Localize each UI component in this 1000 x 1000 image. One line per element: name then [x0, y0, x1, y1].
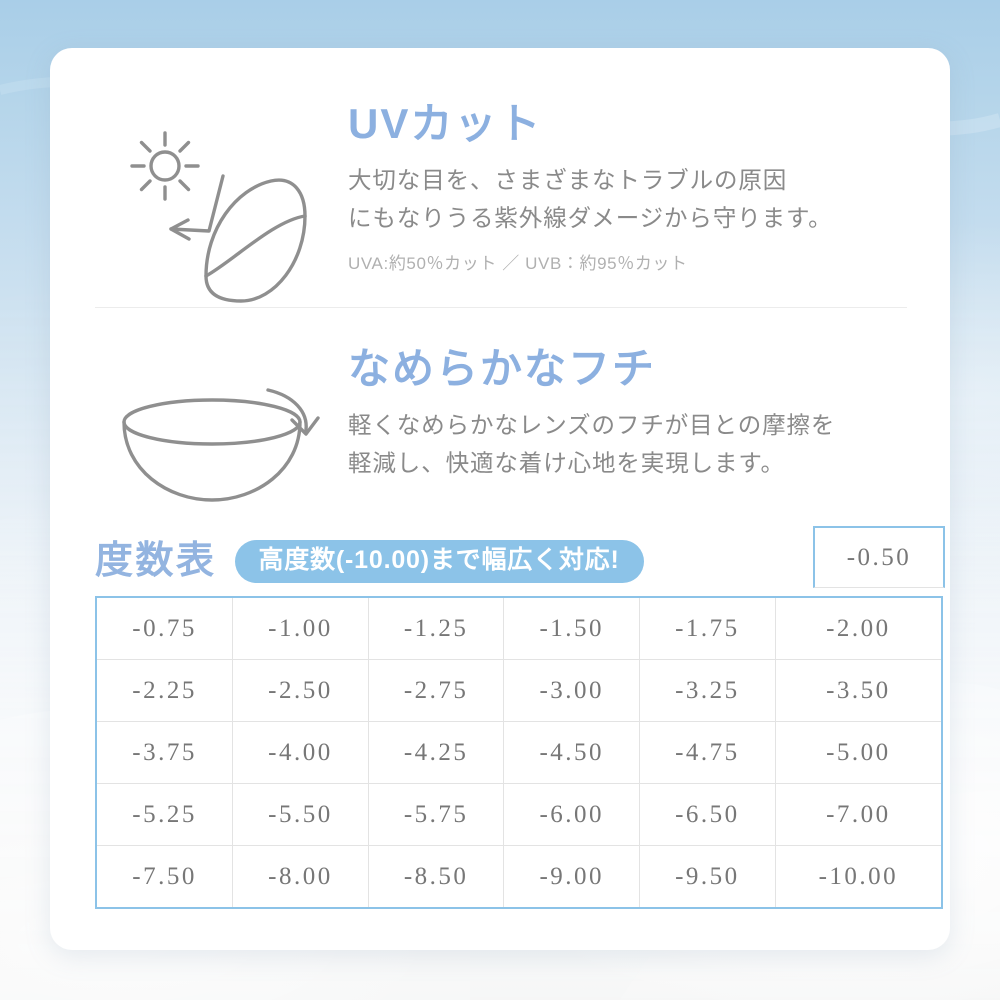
- feature-uv-cut-body: UVカット 大切な目を、さまざまなトラブルの原因 にもなりうる紫外線ダメージから…: [348, 103, 918, 274]
- power-table-row: -0.75-1.00-1.25-1.50-1.75-2.00: [96, 597, 942, 660]
- power-cell[interactable]: -8.50: [368, 846, 504, 909]
- feature-smooth-edge-title: なめらかなフチ: [348, 348, 928, 390]
- power-table-header: 度数表 高度数(-10.00)まで幅広く対応! -0.50: [95, 526, 945, 596]
- power-cell[interactable]: -5.00: [775, 722, 942, 784]
- power-cell[interactable]: -5.75: [368, 784, 504, 846]
- power-cell[interactable]: -2.25: [96, 660, 233, 722]
- feature-uv-cut-desc-line-2: にもなりうる紫外線ダメージから守ります。: [348, 199, 918, 237]
- smooth-lens-edge-icon: [98, 348, 348, 513]
- power-cell[interactable]: -0.75: [96, 597, 233, 660]
- power-cell[interactable]: -7.50: [96, 846, 233, 909]
- power-cell[interactable]: -1.25: [368, 597, 504, 660]
- power-table-section: 度数表 高度数(-10.00)まで幅広く対応! -0.50 -0.75-1.00…: [95, 526, 945, 909]
- power-table-row: -2.25-2.50-2.75-3.00-3.25-3.50: [96, 660, 942, 722]
- feature-uv-cut: UVカット 大切な目を、さまざまなトラブルの原因 にもなりうる紫外線ダメージから…: [98, 103, 918, 306]
- power-table-row: -3.75-4.00-4.25-4.50-4.75-5.00: [96, 722, 942, 784]
- power-cell[interactable]: -1.75: [640, 597, 776, 660]
- feature-smooth-edge-desc-line-1: 軽くなめらかなレンズのフチが目との摩擦を: [348, 406, 928, 444]
- power-table-body: -0.75-1.00-1.25-1.50-1.75-2.00-2.25-2.50…: [96, 597, 942, 908]
- power-table-row: -5.25-5.50-5.75-6.00-6.50-7.00: [96, 784, 942, 846]
- power-cell[interactable]: -3.75: [96, 722, 233, 784]
- power-cell[interactable]: -6.00: [504, 784, 640, 846]
- power-table-title: 度数表: [95, 542, 217, 580]
- power-cell[interactable]: -2.00: [775, 597, 942, 660]
- feature-uv-cut-title: UVカット: [348, 103, 918, 145]
- feature-uv-cut-desc-line-1: 大切な目を、さまざまなトラブルの原因: [348, 161, 918, 199]
- power-cell[interactable]: -4.75: [640, 722, 776, 784]
- power-cell[interactable]: -4.25: [368, 722, 504, 784]
- power-cell[interactable]: -10.00: [775, 846, 942, 909]
- feature-smooth-edge: なめらかなフチ 軽くなめらかなレンズのフチが目との摩擦を 軽減し、快適な着け心地…: [98, 348, 928, 513]
- power-cell[interactable]: -3.25: [640, 660, 776, 722]
- power-cell[interactable]: -7.00: [775, 784, 942, 846]
- info-card: UVカット 大切な目を、さまざまなトラブルの原因 にもなりうる紫外線ダメージから…: [50, 48, 950, 950]
- power-cell[interactable]: -2.50: [233, 660, 369, 722]
- power-cell[interactable]: -1.50: [504, 597, 640, 660]
- power-table-row: -7.50-8.00-8.50-9.00-9.50-10.00: [96, 846, 942, 909]
- power-cell[interactable]: -2.75: [368, 660, 504, 722]
- power-table-grid: -0.75-1.00-1.25-1.50-1.75-2.00-2.25-2.50…: [95, 596, 943, 909]
- power-cell[interactable]: -5.50: [233, 784, 369, 846]
- power-cell[interactable]: -3.00: [504, 660, 640, 722]
- power-cell[interactable]: -4.50: [504, 722, 640, 784]
- power-cell[interactable]: -6.50: [640, 784, 776, 846]
- section-divider: [95, 307, 907, 308]
- power-cell[interactable]: -3.50: [775, 660, 942, 722]
- power-cell[interactable]: -4.00: [233, 722, 369, 784]
- feature-uv-cut-note: UVA:約50％カット ／ UVB：約95％カット: [348, 249, 918, 274]
- power-cell[interactable]: -8.00: [233, 846, 369, 909]
- power-cell-first[interactable]: -0.50: [813, 526, 945, 588]
- power-cell[interactable]: -5.25: [96, 784, 233, 846]
- sun-uv-blocking-lens-icon: [98, 103, 348, 306]
- power-cell[interactable]: -9.50: [640, 846, 776, 909]
- power-range-badge: 高度数(-10.00)まで幅広く対応!: [235, 540, 644, 583]
- feature-smooth-edge-desc-line-2: 軽減し、快適な着け心地を実現します。: [348, 444, 928, 482]
- feature-smooth-edge-body: なめらかなフチ 軽くなめらかなレンズのフチが目との摩擦を 軽減し、快適な着け心地…: [348, 348, 928, 482]
- power-cell[interactable]: -1.00: [233, 597, 369, 660]
- power-cell[interactable]: -9.00: [504, 846, 640, 909]
